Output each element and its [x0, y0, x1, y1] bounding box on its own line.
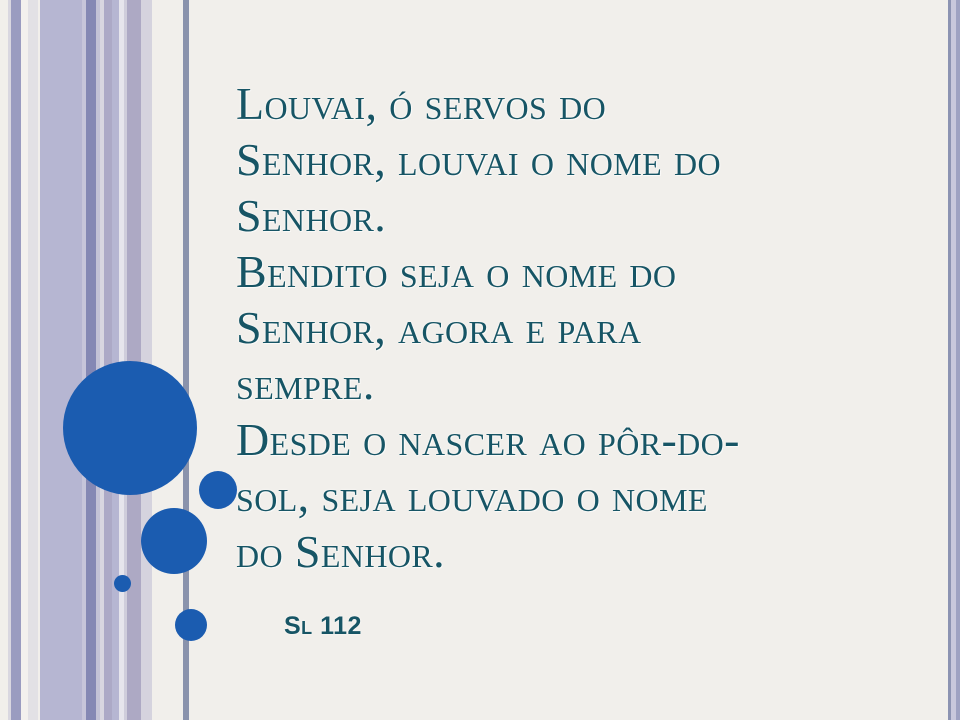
- verse-line: Senhor, agora e para: [236, 300, 926, 356]
- scripture-reference: Sl 112: [284, 612, 362, 641]
- decorative-circle-large: [63, 361, 197, 495]
- decorative-circle-bottom: [175, 609, 207, 641]
- decorative-vertical-rule-right: [947, 0, 960, 720]
- verse-line: do Senhor.: [236, 524, 926, 580]
- decorative-circle-small: [199, 471, 237, 509]
- verse-line: sempre.: [236, 356, 926, 412]
- decorative-circle-medium: [141, 508, 207, 574]
- verse-line: Senhor, louvai o nome do: [236, 132, 926, 188]
- scripture-text-block: Louvai, ó servos do Senhor, louvai o nom…: [236, 76, 926, 580]
- verse-line: Senhor.: [236, 188, 926, 244]
- decorative-circle-tiny: [114, 575, 131, 592]
- verse-line: Bendito seja o nome do: [236, 244, 926, 300]
- verse-line: Desde o nascer ao pôr-do-: [236, 412, 926, 468]
- slide-canvas: Louvai, ó servos do Senhor, louvai o nom…: [0, 0, 960, 720]
- verse-line: sol, seja louvado o nome: [236, 468, 926, 524]
- verse-line: Louvai, ó servos do: [236, 76, 926, 132]
- decorative-stripe-band: [0, 0, 195, 720]
